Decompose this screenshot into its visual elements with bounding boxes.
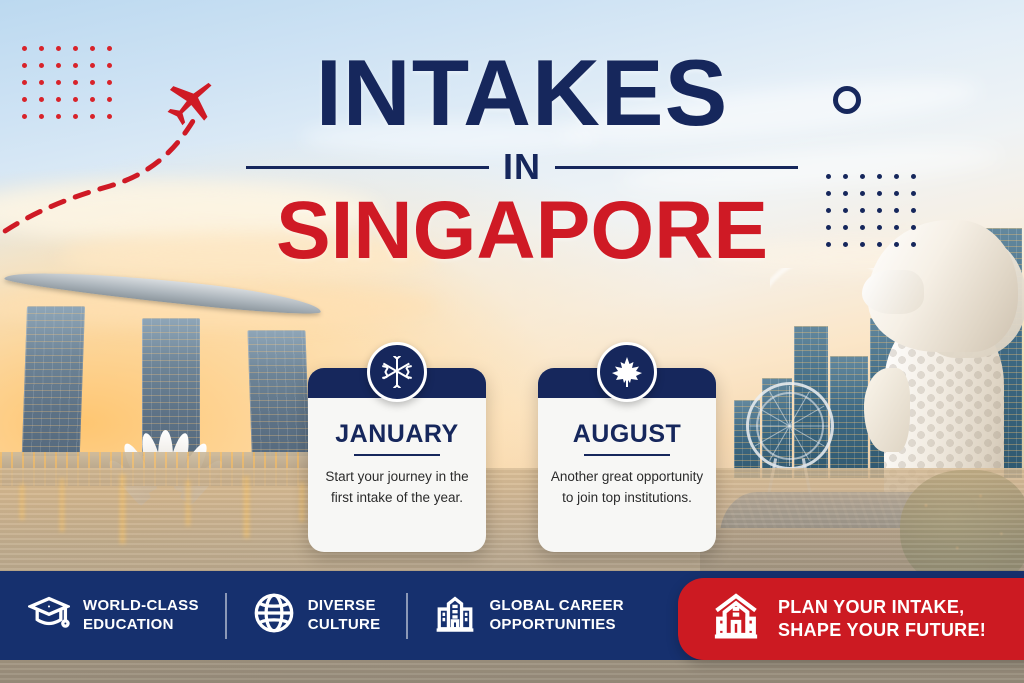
navy-dot-grid-decoration (826, 174, 928, 259)
card-month-label: AUGUST (538, 420, 716, 449)
feature-separator (225, 593, 227, 639)
title-connector-row: IN (246, 146, 798, 188)
title-line-singapore: SINGAPORE (246, 190, 798, 272)
feature-separator (406, 593, 408, 639)
institution-building-icon (434, 592, 476, 639)
card-divider (584, 454, 670, 456)
marina-bay-sands (10, 278, 320, 478)
maple-leaf-icon (597, 342, 657, 402)
feature-diverse-culture: DIVERSE CULTURE (253, 592, 381, 639)
feature-global-career-opportunities: GLOBAL CAREER OPPORTUNITIES (434, 592, 623, 639)
feature-world-class-education: WORLD-CLASS EDUCATION (28, 592, 199, 639)
cta-banner[interactable]: PLAN YOUR INTAKE, SHAPE YOUR FUTURE! (678, 578, 1024, 660)
card-description: Another great opportunity to join top in… (548, 467, 706, 509)
title-connector-in: IN (503, 146, 541, 188)
card-divider (354, 454, 440, 456)
circle-outline-decoration (833, 86, 861, 114)
title-rule-right (555, 166, 798, 169)
title-rule-left (246, 166, 489, 169)
cta-label: PLAN YOUR INTAKE, SHAPE YOUR FUTURE! (778, 596, 986, 643)
page-title: INTAKES IN SINGAPORE (246, 48, 798, 272)
flight-path-decoration (0, 50, 250, 250)
feature-label: DIVERSE CULTURE (308, 597, 381, 635)
globe-icon (253, 592, 295, 639)
title-line-intakes: INTAKES (246, 48, 798, 138)
snowflake-icon (367, 342, 427, 402)
school-building-icon (710, 591, 762, 648)
feature-label: GLOBAL CAREER OPPORTUNITIES (489, 597, 623, 635)
card-month-label: JANUARY (308, 420, 486, 449)
intake-card-january[interactable]: JANUARY Start your journey in the first … (308, 368, 486, 552)
feature-list: WORLD-CLASS EDUCATION DIVERSE CULTURE (28, 571, 624, 660)
graduation-cap-icon (28, 592, 70, 639)
feature-label: WORLD-CLASS EDUCATION (83, 597, 199, 635)
intake-cards: JANUARY Start your journey in the first … (308, 368, 716, 554)
card-description: Start your journey in the first intake o… (318, 467, 476, 509)
intake-card-august[interactable]: AUGUST Another great opportunity to join… (538, 368, 716, 552)
poster-root: INTAKES IN SINGAPORE (0, 0, 1024, 683)
